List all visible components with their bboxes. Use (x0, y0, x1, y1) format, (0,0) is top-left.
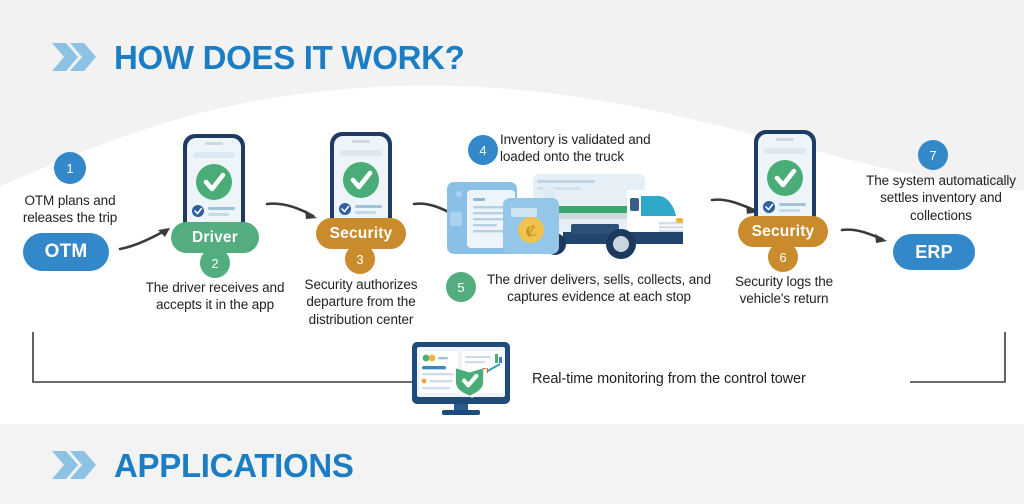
step-badge-2: 2 (200, 248, 230, 278)
arrow-driver-to-security (265, 196, 325, 230)
step-caption-3: Security authorizes departure from the d… (288, 276, 434, 328)
double-chevron-right-icon (50, 40, 98, 74)
monitor-dashboard-icon (398, 342, 524, 416)
node-security-departure-label: Security (330, 225, 393, 243)
step-caption-1-text: OTM plans and releases the trip (23, 193, 117, 225)
control-tower-label: Real-time monitoring from the control to… (532, 371, 806, 387)
step-badge-7: 7 (918, 140, 948, 170)
node-erp-label: ERP (915, 242, 953, 263)
step-number-2: 2 (211, 256, 218, 271)
step-badge-6: 6 (768, 242, 798, 272)
step-caption-6: Security logs the vehicle's return (722, 273, 846, 308)
node-otm-label: OTM (45, 241, 88, 263)
applications-title: APPLICATIONS (114, 449, 354, 482)
double-chevron-right-icon-applications (50, 448, 98, 482)
node-otm[interactable]: OTM (23, 233, 109, 271)
infographic-canvas: HOW DOES IT WORK? 1 OTM plans and releas… (0, 0, 1024, 504)
step-caption-3-text: Security authorizes departure from the d… (305, 277, 418, 327)
step-number-1: 1 (66, 161, 73, 176)
step-caption-4: Inventory is validated and loaded onto t… (500, 131, 680, 166)
step-number-3: 3 (356, 252, 363, 267)
step-caption-2: The driver receives and accepts it in th… (140, 279, 290, 314)
step-number-7: 7 (929, 148, 936, 163)
node-security-return-label: Security (752, 223, 815, 241)
step-badge-5: 5 (446, 272, 476, 302)
section-header-applications: APPLICATIONS (50, 448, 354, 482)
page-title: HOW DOES IT WORK? (114, 41, 465, 74)
svg-text:₡: ₡ (526, 224, 537, 240)
step-badge-4: 4 (468, 135, 498, 165)
arrow-otm-to-driver (118, 222, 178, 256)
node-erp[interactable]: ERP (893, 234, 975, 270)
delivery-truck-icon: ₡ (445, 168, 695, 264)
step-caption-6-text: Security logs the vehicle's return (735, 274, 833, 306)
section-header-how-does-it-work: HOW DOES IT WORK? (50, 40, 465, 74)
step-caption-4-text: Inventory is validated and loaded onto t… (500, 132, 651, 164)
step-caption-5-text: The driver delivers, sells, collects, an… (487, 272, 711, 304)
step-caption-2-text: The driver receives and accepts it in th… (146, 280, 285, 312)
step-badge-1: 1 (54, 152, 86, 184)
step-caption-7: The system automatically settles invento… (858, 172, 1024, 224)
step-badge-3: 3 (345, 244, 375, 274)
step-caption-7-text: The system automatically settles invento… (866, 173, 1016, 223)
node-driver-label: Driver (192, 229, 238, 247)
arrow-security-to-erp (840, 222, 898, 250)
step-number-4: 4 (479, 143, 486, 158)
step-caption-1: OTM plans and releases the trip (5, 192, 135, 227)
step-number-6: 6 (779, 250, 786, 265)
control-tower-label-text: Real-time monitoring from the control to… (532, 371, 806, 387)
step-caption-5: The driver delivers, sells, collects, an… (484, 271, 714, 306)
step-number-5: 5 (457, 280, 464, 295)
